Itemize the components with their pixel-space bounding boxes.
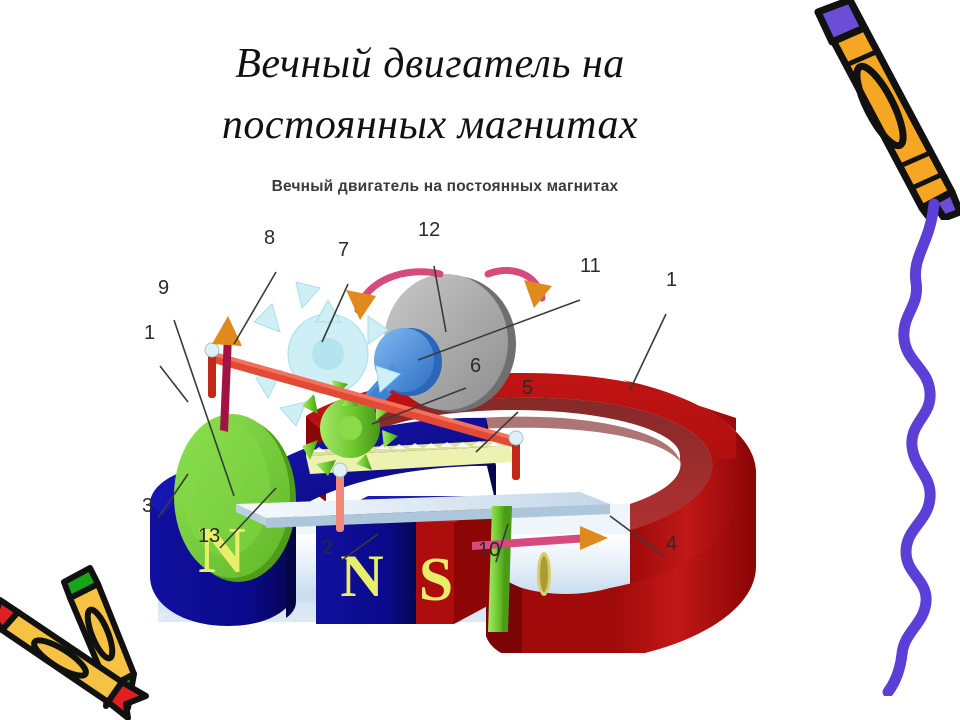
- callout-1-right: 1: [666, 270, 677, 290]
- pole-letter-n-small: N: [340, 543, 383, 609]
- crossed-crayons-icon: [0, 556, 184, 720]
- pole-letter-s-small: S: [419, 546, 453, 614]
- callout-11: 11: [580, 256, 601, 276]
- callout-10: 10: [478, 540, 500, 560]
- callout-1-left: 1: [144, 323, 155, 343]
- callout-12: 12: [418, 220, 440, 240]
- diagram-illustration: N S N: [110, 204, 780, 653]
- purple-scribble-icon: [872, 196, 960, 696]
- callout-8: 8: [264, 228, 275, 248]
- page-title-line-1: Вечный двигатель на: [120, 34, 740, 95]
- orange-crayon-icon: [788, 0, 960, 220]
- page-title: Вечный двигатель на постоянных магнитах: [120, 34, 740, 156]
- callout-2: 2: [322, 538, 333, 558]
- callout-5: 5: [522, 378, 533, 398]
- callout-3: 3: [142, 496, 153, 516]
- coil-element: [537, 552, 551, 596]
- page-title-line-2: постоянных магнитах: [120, 95, 740, 156]
- slide-canvas: Вечный двигатель на постоянных магнитах …: [0, 0, 960, 720]
- callout-7: 7: [338, 240, 349, 260]
- perpetual-motion-diagram: Вечный двигатель на постоянных магнитах: [110, 178, 780, 653]
- callout-6: 6: [470, 356, 481, 376]
- callout-13: 13: [198, 526, 220, 546]
- callout-9: 9: [158, 278, 169, 298]
- diagram-caption: Вечный двигатель на постоянных магнитах: [110, 178, 780, 196]
- callout-4: 4: [666, 534, 677, 554]
